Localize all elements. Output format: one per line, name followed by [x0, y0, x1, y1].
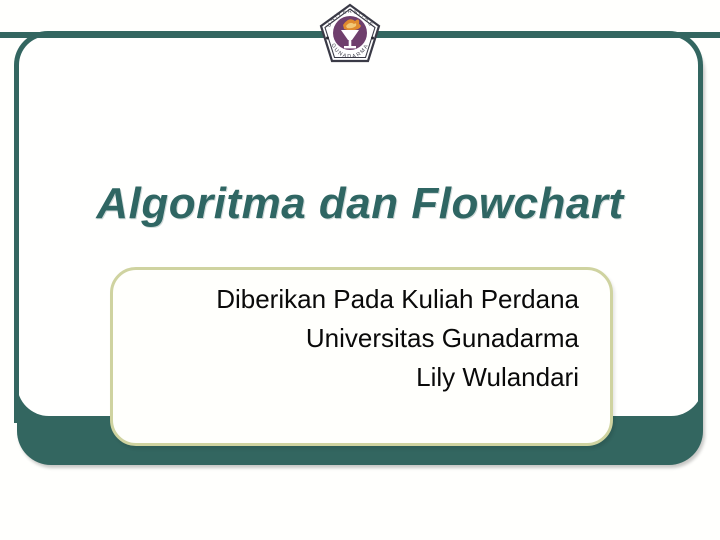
subtitle-line-author: Lily Wulandari: [139, 358, 579, 397]
presentation-slide: UNIVERSITAS GUNADARMA Algoritma dan Flow…: [0, 0, 720, 540]
subtitle-line-course: Diberikan Pada Kuliah Perdana: [139, 280, 579, 319]
subtitle-callout-box: Diberikan Pada Kuliah Perdana Universita…: [110, 267, 613, 446]
subtitle-text-block: Diberikan Pada Kuliah Perdana Universita…: [139, 280, 579, 397]
subtitle-line-institution: Universitas Gunadarma: [139, 319, 579, 358]
universitas-gunadarma-logo-icon: UNIVERSITAS GUNADARMA: [319, 3, 381, 71]
page-title: Algoritma dan Flowchart: [36, 179, 684, 229]
